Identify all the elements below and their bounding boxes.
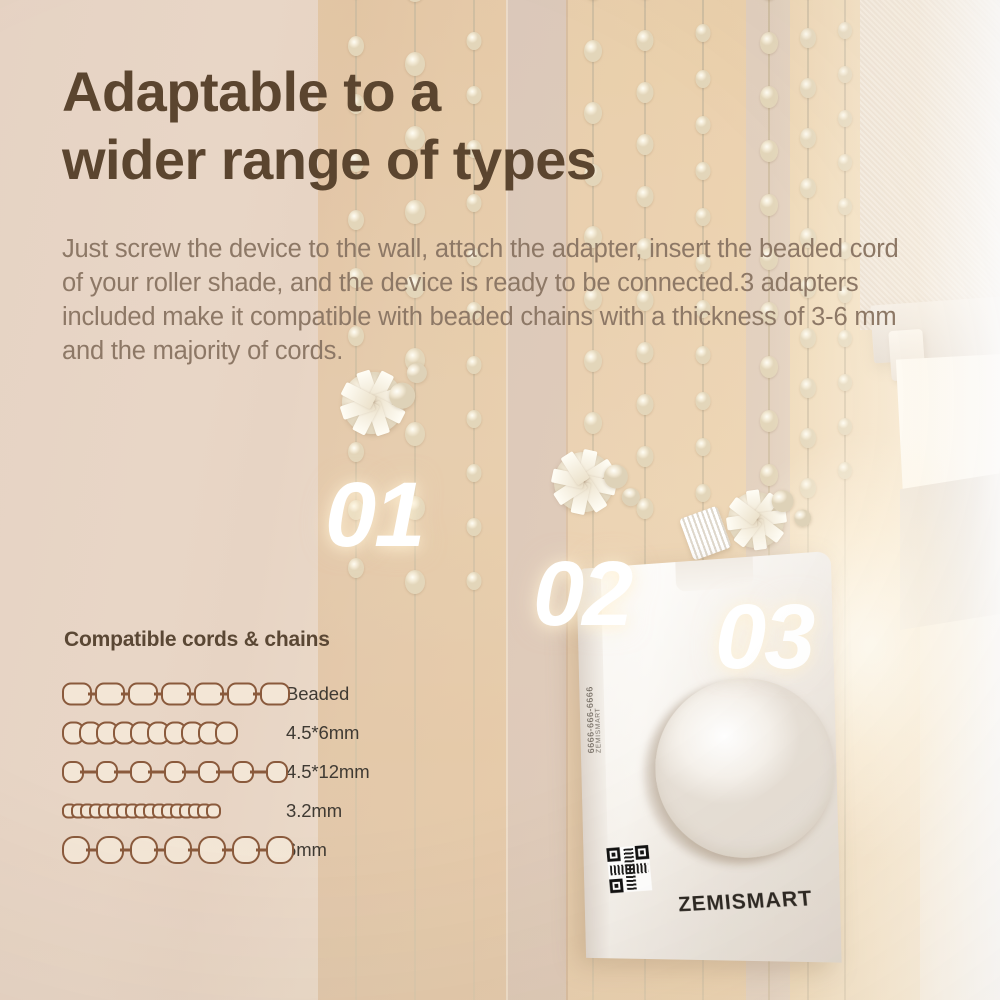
vignette-overlay: [0, 0, 1000, 1000]
product-marketing-image: 6666-666-6666 ZEMISMART ZEMISMART 01 02 …: [0, 0, 1000, 1000]
